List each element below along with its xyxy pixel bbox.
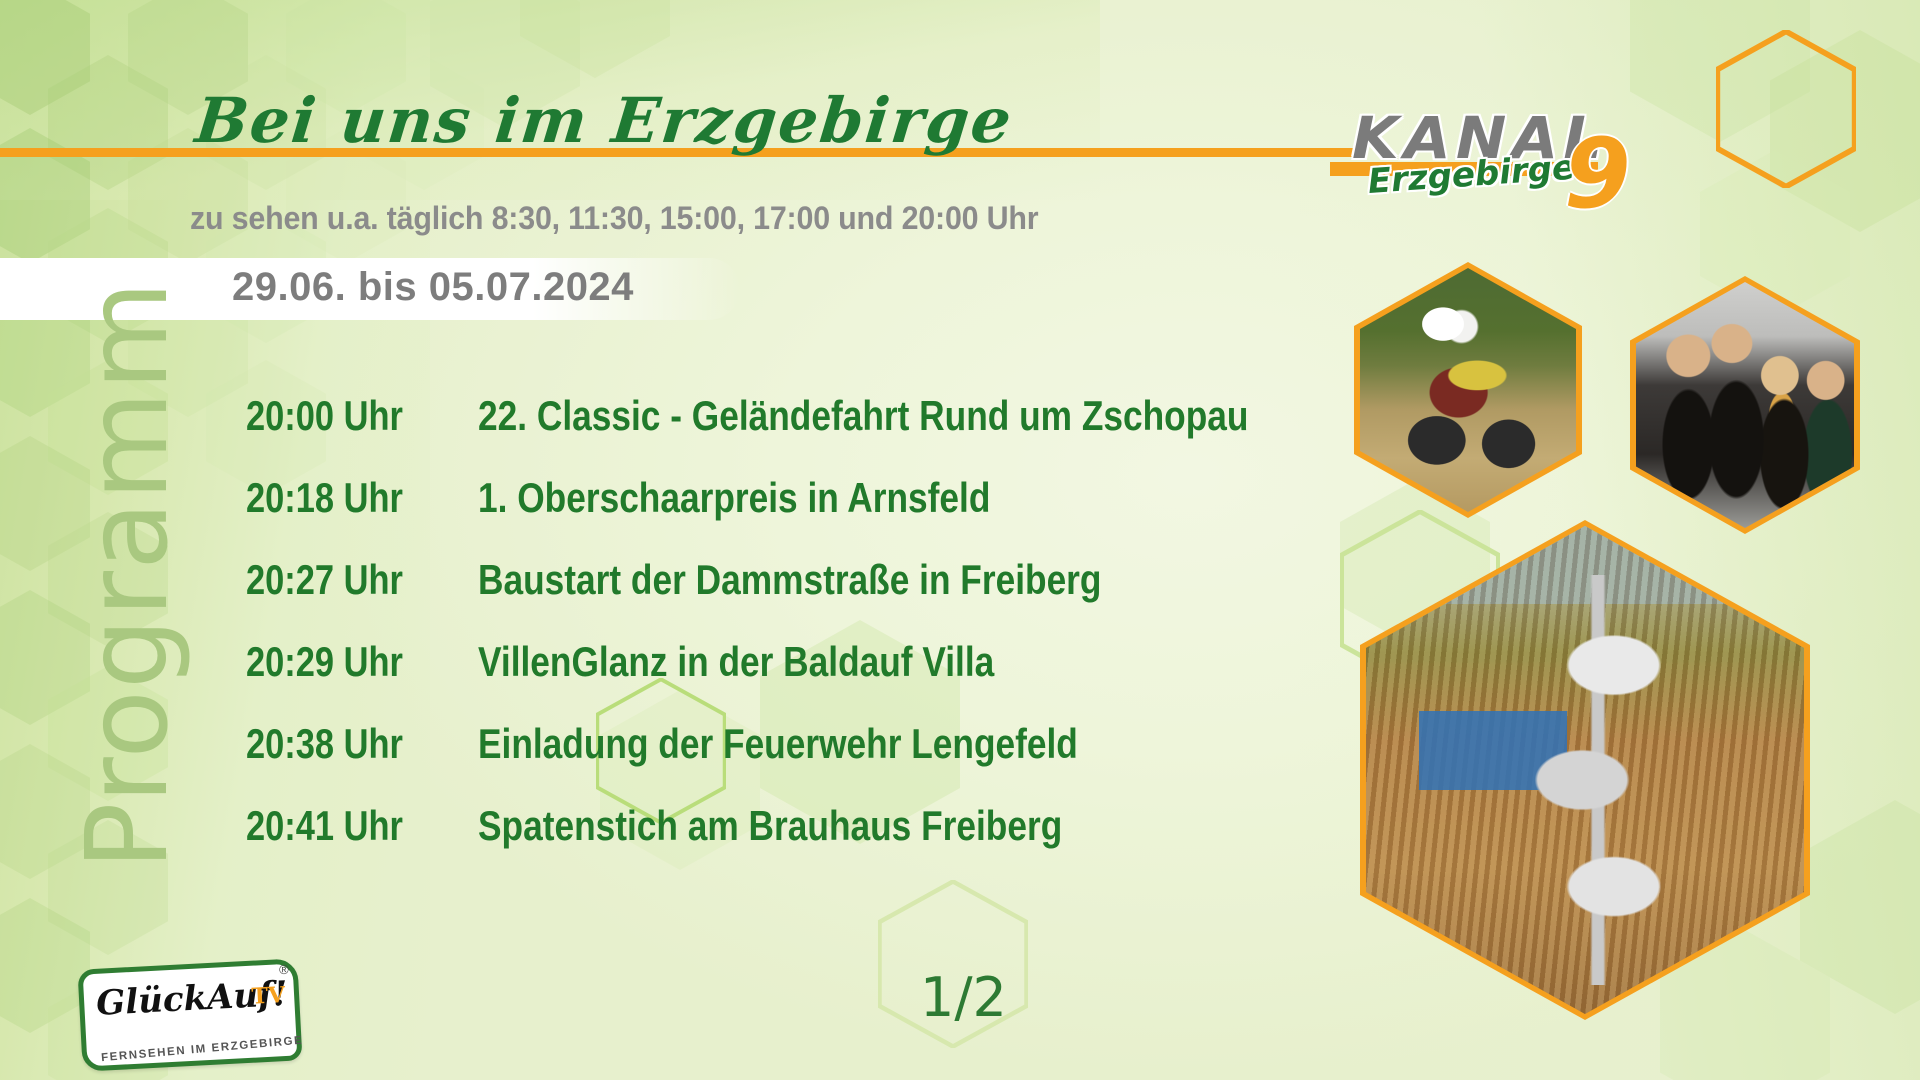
registered-trademark-icon: ® <box>279 962 289 977</box>
program-row: 20:41 Uhr Spatenstich am Brauhaus Freibe… <box>246 802 1346 884</box>
program-time: 20:18 Uhr <box>246 474 436 522</box>
program-time: 20:27 Uhr <box>246 556 436 604</box>
glueckauf-tagline: FERNSEHEN IM ERZGEBIRGE <box>101 1035 304 1065</box>
glueckauf-tv-logo: GlückAuf! TV ® FERNSEHEN IM ERZGEBIRGE <box>77 958 302 1071</box>
program-row: 20:38 Uhr Einladung der Feuerwehr Lengef… <box>246 720 1346 802</box>
program-row: 20:27 Uhr Baustart der Dammstraße in Fre… <box>246 556 1346 638</box>
program-list: 20:00 Uhr 22. Classic - Geländefahrt Run… <box>246 392 1346 884</box>
program-title: Spatenstich am Brauhaus Freiberg <box>478 802 1062 850</box>
program-time: 20:38 Uhr <box>246 720 436 768</box>
motocross-bike-shape <box>1390 307 1546 478</box>
programm-watermark: Programm <box>63 255 193 895</box>
page-indicator: 1/2 <box>920 966 1007 1029</box>
kanal9-logo: KANAL Erzgebirge 9 <box>1352 104 1652 224</box>
program-title: Einladung der Feuerwehr Lengefeld <box>478 720 1078 768</box>
date-range-label: 29.06. bis 05.07.2024 <box>232 265 634 310</box>
program-title: VillenGlanz in der Baldauf Villa <box>478 638 994 686</box>
page-title: Bei uns im Erzgebirge <box>192 84 1016 157</box>
program-title: 1. Oberschaarpreis in Arnsfeld <box>478 474 990 522</box>
program-time: 20:00 Uhr <box>246 392 436 440</box>
program-title: Baustart der Dammstraße in Freiberg <box>478 556 1101 604</box>
kanal-number: 9 <box>1564 126 1631 222</box>
program-title: 22. Classic - Geländefahrt Rund um Zscho… <box>478 392 1248 440</box>
spiral-slide-shape <box>1532 575 1663 985</box>
party-guests-shapes <box>1636 282 1854 528</box>
program-row: 20:29 Uhr VillenGlanz in der Baldauf Vil… <box>246 638 1346 720</box>
program-row: 20:18 Uhr 1. Oberschaarpreis in Arnsfeld <box>246 474 1346 556</box>
program-slide: Bei uns im Erzgebirge zu sehen u.a. tägl… <box>0 0 1920 1080</box>
glueckauf-tv-label: TV <box>251 982 286 1010</box>
program-row: 20:00 Uhr 22. Classic - Geländefahrt Run… <box>246 392 1346 474</box>
party-guests-image <box>1636 282 1854 528</box>
program-time: 20:29 Uhr <box>246 638 436 686</box>
broadcast-times-subtitle: zu sehen u.a. täglich 8:30, 11:30, 15:00… <box>190 200 1038 237</box>
motocross-rider-image <box>1360 268 1576 512</box>
program-time: 20:41 Uhr <box>246 802 436 850</box>
